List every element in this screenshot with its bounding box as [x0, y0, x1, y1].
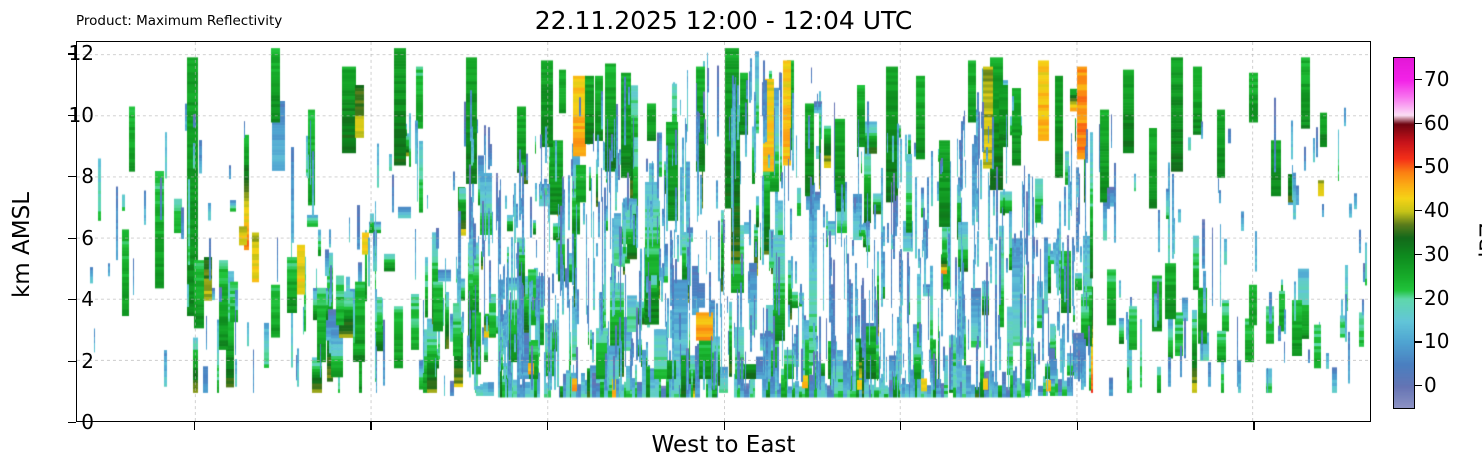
y-tick-label: 0 [81, 410, 94, 434]
colorbar-label: dBZ [1476, 184, 1482, 304]
plot-area[interactable] [76, 41, 1371, 422]
y-tick-label: 8 [81, 164, 94, 188]
x-tick-mark [1253, 422, 1254, 430]
colorbar-tick-label: 0 [1424, 373, 1437, 397]
y-axis-label: km AMSL [9, 165, 35, 325]
colorbar-tick-mark [1415, 210, 1422, 211]
y-tick-mark [68, 422, 76, 423]
y-tick-label: 10 [69, 103, 94, 127]
x-tick-mark [724, 422, 725, 430]
colorbar-tick-label: 10 [1424, 329, 1449, 353]
reflectivity-heatmap-canvas [77, 42, 1372, 423]
y-tick-label: 6 [81, 226, 94, 250]
x-axis-label: West to East [76, 432, 1371, 458]
colorbar-tick-mark [1415, 123, 1422, 124]
y-tick-mark [68, 299, 76, 300]
x-tick-mark [370, 422, 371, 430]
colorbar-tick-label: 40 [1424, 198, 1449, 222]
colorbar-tick-mark [1415, 166, 1422, 167]
colorbar-tick-mark [1415, 341, 1422, 342]
y-tick-mark [68, 176, 76, 177]
colorbar[interactable]: 010203040506070 [1393, 57, 1413, 407]
page-title: 22.11.2025 12:00 - 12:04 UTC [76, 6, 1371, 35]
colorbar-tick-label: 30 [1424, 242, 1449, 266]
radar-cross-section-figure: Product: Maximum Reflectivity 22.11.2025… [0, 0, 1482, 470]
colorbar-tick-label: 20 [1424, 286, 1449, 310]
colorbar-tick-label: 70 [1424, 67, 1449, 91]
colorbar-tick-mark [1415, 254, 1422, 255]
x-tick-mark [194, 422, 195, 430]
x-tick-mark [1077, 422, 1078, 430]
colorbar-tick-label: 60 [1424, 111, 1449, 135]
colorbar-tick-mark [1415, 298, 1422, 299]
colorbar-tick-mark [1415, 79, 1422, 80]
y-tick-label: 4 [81, 287, 94, 311]
y-tick-label: 12 [69, 41, 94, 65]
colorbar-gradient [1393, 57, 1415, 409]
y-tick-mark [68, 238, 76, 239]
colorbar-tick-label: 50 [1424, 154, 1449, 178]
y-tick-label: 2 [81, 349, 94, 373]
x-tick-mark [547, 422, 548, 430]
x-tick-mark [900, 422, 901, 430]
y-tick-mark [68, 361, 76, 362]
colorbar-tick-mark [1415, 385, 1422, 386]
